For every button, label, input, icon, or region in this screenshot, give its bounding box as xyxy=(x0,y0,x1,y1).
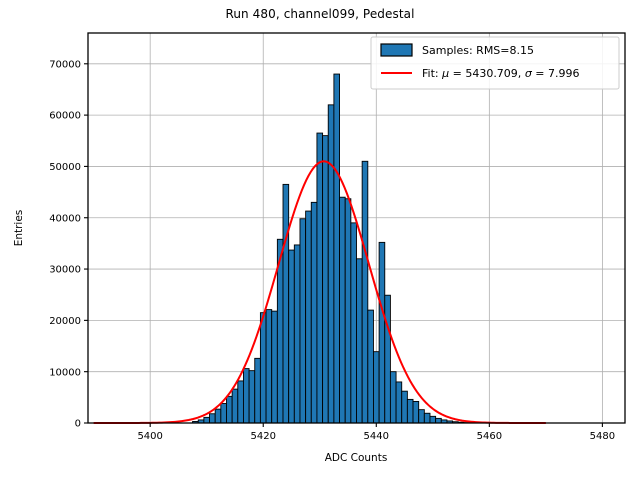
histogram-bar xyxy=(436,418,442,423)
x-tick-label: 5420 xyxy=(251,431,276,442)
histogram-bar xyxy=(323,136,329,423)
histogram-bar xyxy=(306,211,312,423)
histogram-bar xyxy=(362,161,368,423)
legend-swatch-samples xyxy=(381,44,412,56)
histogram-bar xyxy=(340,197,346,423)
figure-canvas: Run 480, channel099, Pedestal 5400542054… xyxy=(0,0,640,480)
histogram-bar xyxy=(266,310,272,423)
y-tick-label: 10000 xyxy=(49,367,81,378)
histogram-bar xyxy=(260,313,266,423)
legend-label-fit: Fit: μ = 5430.709, σ = 7.996 xyxy=(422,67,580,80)
histogram-bar xyxy=(249,371,255,423)
histogram-bar xyxy=(368,310,374,423)
histogram-bar xyxy=(226,396,232,423)
histogram-bar xyxy=(300,219,306,423)
histogram-bar xyxy=(243,369,249,423)
histogram-bar xyxy=(317,133,323,423)
histogram-bar xyxy=(272,311,278,423)
histogram-bar xyxy=(232,389,238,423)
chart-legend[interactable]: Samples: RMS=8.15 Fit: μ = 5430.709, σ =… xyxy=(371,37,619,89)
y-tick-label: 20000 xyxy=(49,316,81,327)
histogram-bar xyxy=(379,242,385,423)
y-tick-label: 50000 xyxy=(49,162,81,173)
histogram-bar xyxy=(294,245,300,423)
y-tick-label: 60000 xyxy=(49,111,81,122)
histogram-bar xyxy=(419,410,425,423)
histogram-bar xyxy=(311,202,317,423)
y-tick-label: 0 xyxy=(75,419,81,430)
chart-plot-area: 54005420544054605480 0100002000030000400… xyxy=(0,0,640,480)
x-axis-label: ADC Counts xyxy=(325,452,388,464)
histogram-bar xyxy=(221,404,227,424)
y-tick-label: 70000 xyxy=(49,59,81,70)
x-tick-label: 5480 xyxy=(590,431,615,442)
histogram-bar xyxy=(424,413,430,423)
histogram-bar xyxy=(430,416,436,423)
x-axis-ticks: 54005420544054605480 xyxy=(137,423,615,442)
histogram-bar xyxy=(390,372,396,423)
histogram-bar xyxy=(238,381,244,423)
histogram-bar xyxy=(215,409,221,423)
histogram-bar xyxy=(357,259,363,423)
histogram-bar xyxy=(351,223,357,423)
histogram-bar xyxy=(210,414,216,423)
histogram-bar xyxy=(289,250,295,423)
histogram-bar xyxy=(413,401,419,423)
histogram-bar xyxy=(283,184,289,423)
x-tick-label: 5440 xyxy=(364,431,389,442)
histogram-bar xyxy=(204,417,210,423)
x-tick-label: 5400 xyxy=(137,431,162,442)
histogram-bar xyxy=(334,74,340,423)
histogram-bar xyxy=(345,199,351,423)
histogram-bar xyxy=(402,391,408,423)
y-tick-label: 40000 xyxy=(49,213,81,224)
y-tick-label: 30000 xyxy=(49,265,81,276)
histogram-bar xyxy=(328,105,334,423)
histogram-bar xyxy=(385,295,391,423)
y-axis-ticks: 010000200003000040000500006000070000 xyxy=(49,59,88,429)
histogram-bar xyxy=(255,358,261,423)
x-tick-label: 5460 xyxy=(477,431,502,442)
legend-label-samples: Samples: RMS=8.15 xyxy=(422,44,534,57)
histogram-bar xyxy=(373,352,379,423)
histogram-bar xyxy=(396,382,402,423)
y-axis-label: Entries xyxy=(13,210,25,247)
histogram-bar xyxy=(407,399,413,423)
